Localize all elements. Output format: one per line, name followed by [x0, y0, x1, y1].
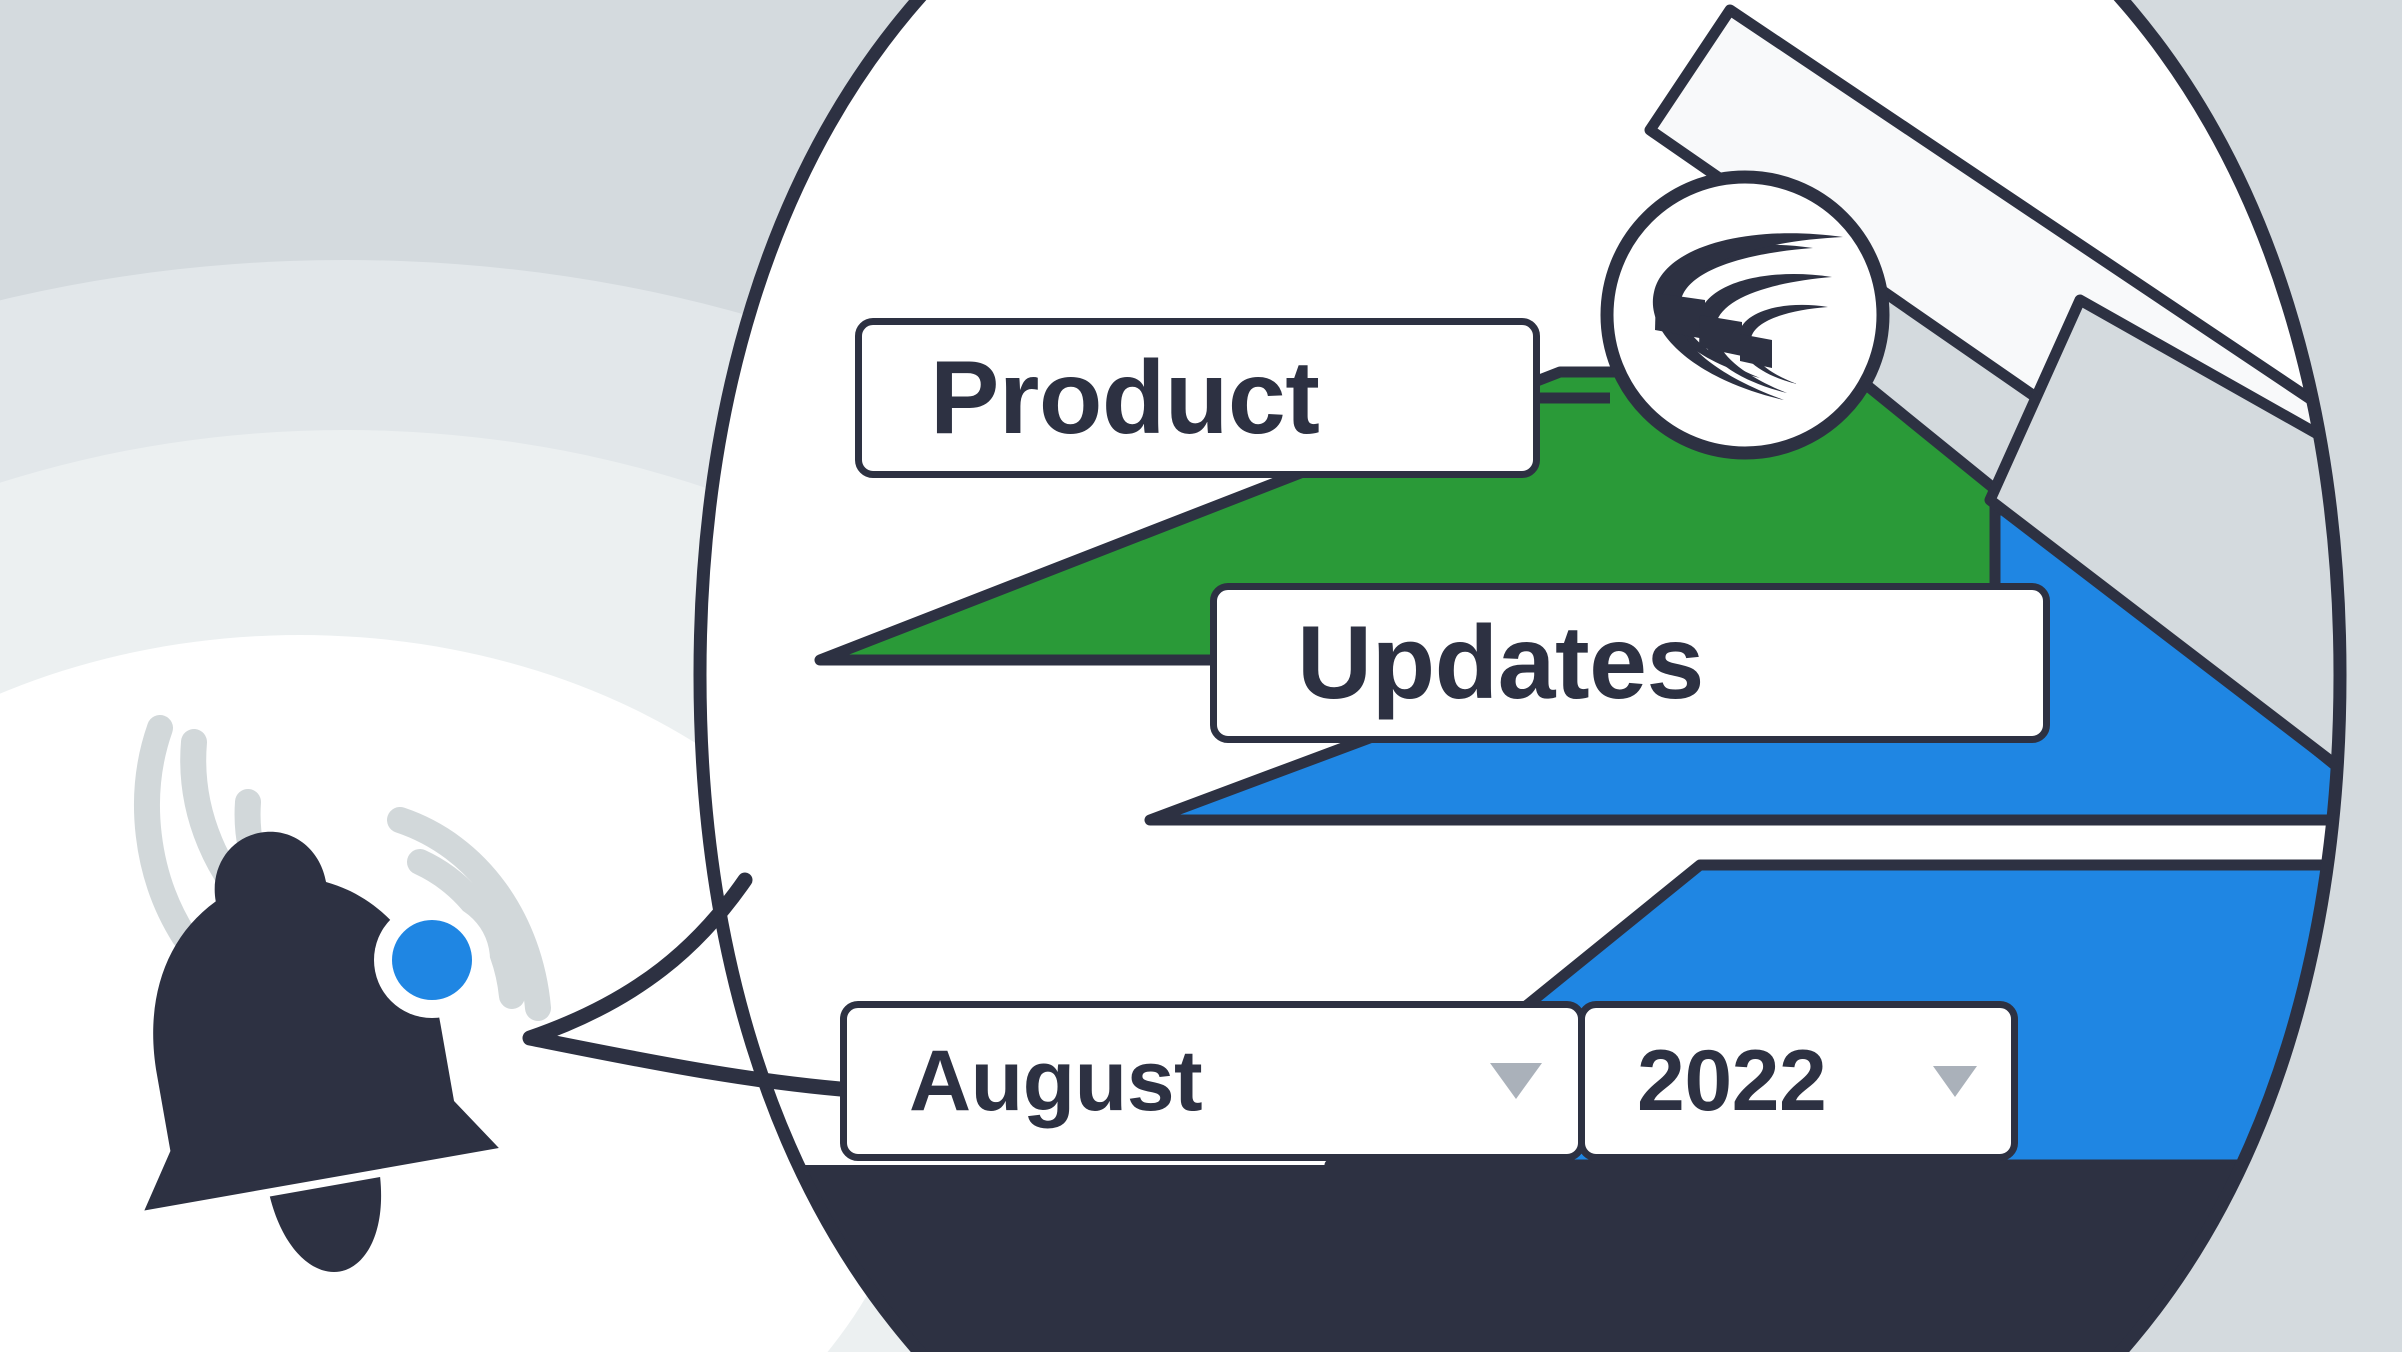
year-selector[interactable]: 2022	[1578, 1001, 2018, 1161]
chevron-down-icon	[1933, 1066, 1977, 1097]
year-selector-value: 2022	[1637, 1032, 1826, 1131]
notification-dot[interactable]	[392, 920, 472, 1000]
bell-clapper	[270, 1177, 395, 1281]
product-updates-banner: Product Updates August 2022	[0, 0, 2402, 1352]
month-selector-value: August	[909, 1032, 1202, 1131]
title-card-product: Product	[855, 318, 1540, 478]
chevron-down-icon	[1490, 1063, 1542, 1099]
month-selector[interactable]: August	[840, 1001, 1585, 1161]
ringing-bell-icon	[83, 728, 538, 1303]
title-line-1: Product	[930, 339, 1319, 458]
bell-wave-left-far	[147, 728, 184, 936]
title-card-updates: Updates	[1210, 583, 2050, 743]
title-line-2: Updates	[1297, 604, 1704, 723]
